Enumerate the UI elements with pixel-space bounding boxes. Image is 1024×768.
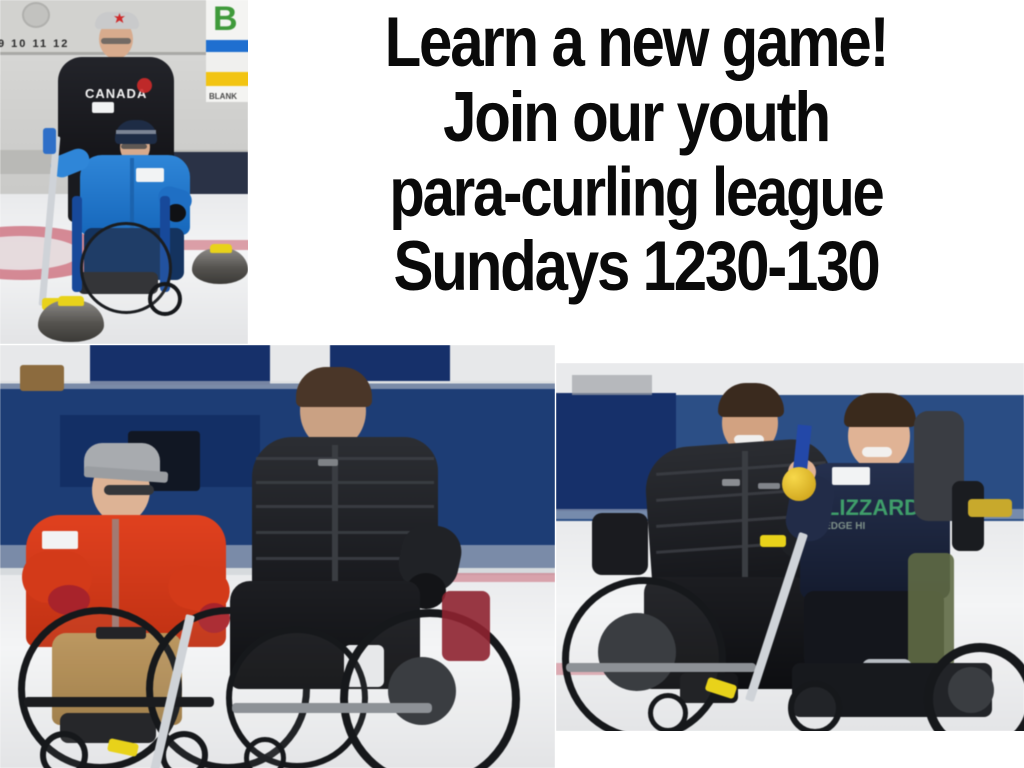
coach-jacket-leaf-badge-icon: [137, 78, 152, 93]
rink-clock: [22, 2, 50, 28]
coach-jacket-zip: [332, 445, 338, 593]
youth-wheelchair-frame: [24, 697, 214, 707]
equipment-bag: [442, 591, 490, 661]
banner-letter-b: B: [213, 2, 238, 36]
delivery-stick-head: [760, 535, 786, 547]
power-chair-joystick[interactable]: [968, 499, 1012, 517]
boy-camo-panel: [908, 553, 954, 669]
coach-wheelchair-frame: [232, 703, 432, 713]
headline-line-2: Join our youth: [443, 83, 829, 152]
photo-bottom-right-scene: BLIZZARD LEDGE HI: [556, 363, 1024, 731]
headline-line-3: para-curling league: [389, 160, 882, 227]
coach-jacket-quilt-3: [256, 505, 434, 508]
curling-stone-far: [192, 248, 248, 284]
coach-bib-tag: [92, 102, 114, 113]
coach-jacket-logo-patch: [318, 459, 338, 466]
boy-bib-tag: [832, 467, 870, 485]
headline-line-1: Learn a new game!: [385, 8, 888, 77]
coach-jacket-quilt-2: [256, 481, 434, 484]
rink-upper-band: [90, 345, 270, 385]
coach-wheelchair-caster: [648, 693, 688, 731]
coach-hair: [296, 367, 372, 407]
boy-smile: [862, 447, 892, 457]
delivery-stick-grip: [43, 128, 56, 154]
photo-top-left-scene: 9 10 11 12 B BLANK: [0, 0, 248, 344]
athlete-toque-stripe: [116, 130, 156, 134]
power-chair-caster: [788, 681, 842, 731]
headline-block: Learn a new game! Join our youth para-cu…: [248, 0, 1024, 344]
banner-band-yellow: [206, 72, 248, 86]
power-chair-hub-right: [948, 667, 994, 713]
curling-stone-near-handle: [58, 296, 84, 306]
coach-jacket-brand-text: [758, 483, 780, 489]
gold-medal: [782, 467, 816, 501]
rink-equipment-box: [20, 365, 64, 391]
coach-jacket-zip: [742, 451, 748, 591]
curling-stone-near: [38, 300, 104, 342]
scoreboard-numbers: 9 10 11 12: [0, 38, 69, 50]
coach-jacket-quilt-1: [256, 457, 434, 460]
poster-canvas: Learn a new game! Join our youth para-cu…: [0, 0, 1024, 768]
youth-bib-tag: [42, 531, 78, 549]
photo-bottom-right: BLIZZARD LEDGE HI: [556, 363, 1024, 731]
banner-band-white: [206, 52, 248, 72]
headline-line-4: Sundays 1230-130: [393, 232, 878, 301]
rink-upper-rail: [572, 375, 652, 395]
coach-chair-backrest: [592, 513, 648, 575]
rink-wall-trim: [0, 381, 555, 389]
coach-jacket-logo-patch: [722, 479, 740, 486]
banner-band-blue: [206, 40, 248, 52]
curling-stone-far-handle: [210, 244, 232, 253]
photo-top-left: 9 10 11 12 B BLANK: [0, 0, 248, 344]
boy-hair: [844, 393, 916, 427]
photo-bottom-left-scene: [0, 345, 555, 768]
coach-wheelchair-hub: [388, 657, 456, 725]
athlete-jacket-zip: [130, 158, 134, 230]
coach-wheelchair-hub: [598, 613, 676, 691]
banner-sign-text: BLANK: [209, 92, 237, 101]
coach-glasses-icon: [101, 38, 131, 44]
photo-bottom-left: [0, 345, 555, 768]
athlete-bib-tag: [136, 168, 164, 182]
wheelchair-caster: [148, 282, 182, 316]
youth-glasses-icon: [104, 485, 154, 495]
coach-wheelchair-frame: [566, 663, 756, 672]
athlete-glasses-icon: [121, 144, 147, 149]
